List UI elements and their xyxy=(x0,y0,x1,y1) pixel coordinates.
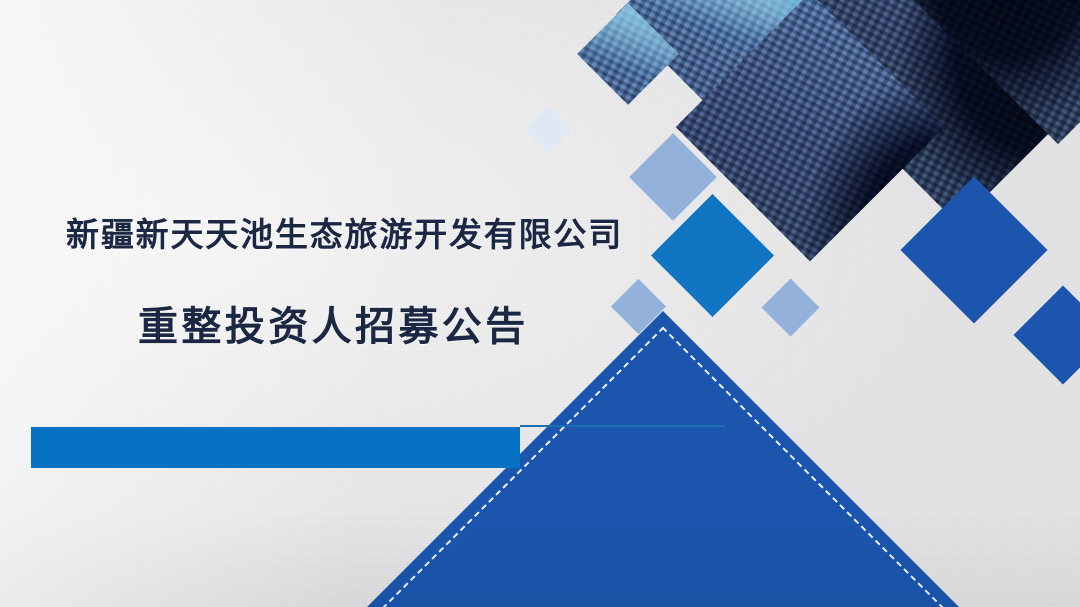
slide-canvas: 新疆新天天池生态旅游开发有限公司 重整投资人招募公告 xyxy=(0,0,1080,607)
headline-block: 新疆新天天池生态旅游开发有限公司 重整投资人招募公告 xyxy=(0,214,620,352)
announcement-title: 重整投资人招募公告 xyxy=(0,302,620,352)
accent-bar xyxy=(31,427,520,468)
photo-diamond-collage xyxy=(540,0,1080,392)
company-name: 新疆新天天池生态旅游开发有限公司 xyxy=(0,214,620,258)
accent-line xyxy=(520,425,725,427)
